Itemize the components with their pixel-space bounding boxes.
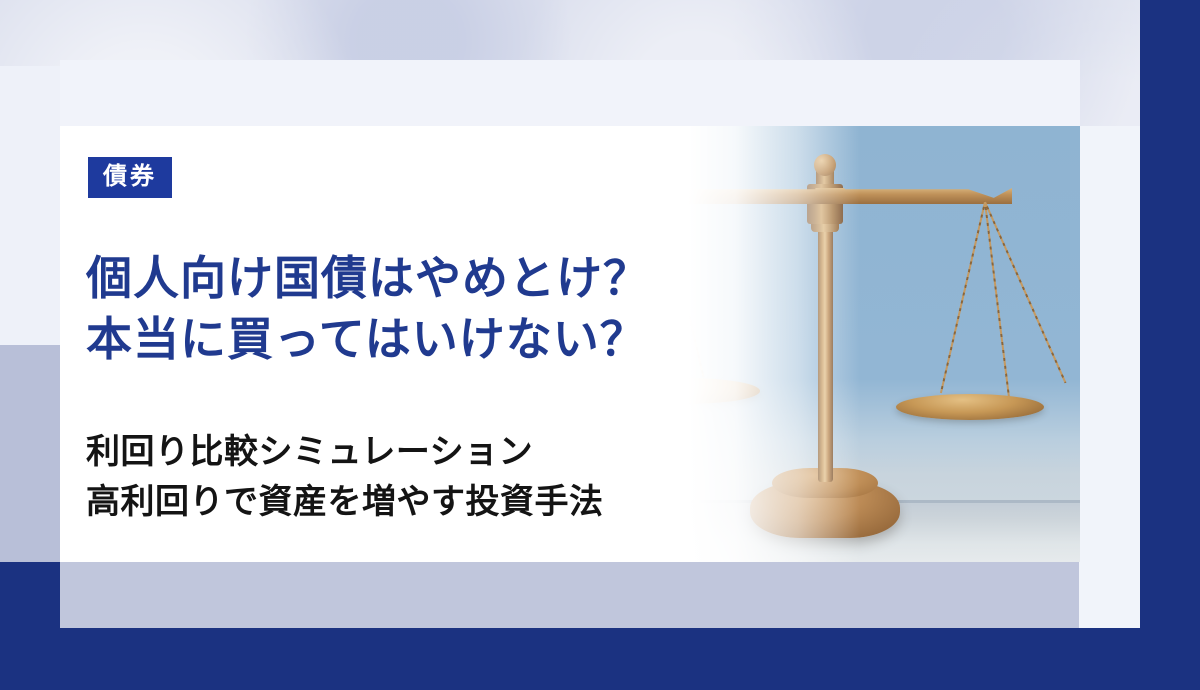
category-badge-label: 債券 — [103, 163, 157, 190]
card-top-tint-strip — [60, 60, 1080, 126]
right-pale-panel — [1079, 126, 1140, 628]
page-title-line-2: 本当に買ってはいけない？ — [86, 309, 806, 370]
lavender-shelf — [60, 562, 1140, 628]
category-badge: 債券 — [88, 157, 172, 198]
thumbnail-canvas: 債券 個人向け国債はやめとけ？ 本当に買ってはいけない？ 利回り比較シミュレーシ… — [0, 0, 1200, 690]
page-subtitle-line-2: 高利回りで資産を増やす投資手法 — [86, 478, 786, 528]
page-subtitle-line-1: 利回り比較シミュレーション — [86, 428, 786, 478]
scale-chain-icon — [940, 202, 986, 393]
page-subtitle: 利回り比較シミュレーション 高利回りで資産を増やす投資手法 — [86, 428, 786, 527]
navy-right-column — [1140, 0, 1200, 690]
page-title-line-1: 個人向け国債はやめとけ？ — [86, 248, 806, 309]
left-pale-band — [0, 66, 60, 345]
page-title: 個人向け国債はやめとけ？ 本当に買ってはいけない？ — [86, 248, 806, 369]
scale-right-pan-icon — [896, 394, 1044, 420]
left-lavender-band — [0, 345, 60, 562]
